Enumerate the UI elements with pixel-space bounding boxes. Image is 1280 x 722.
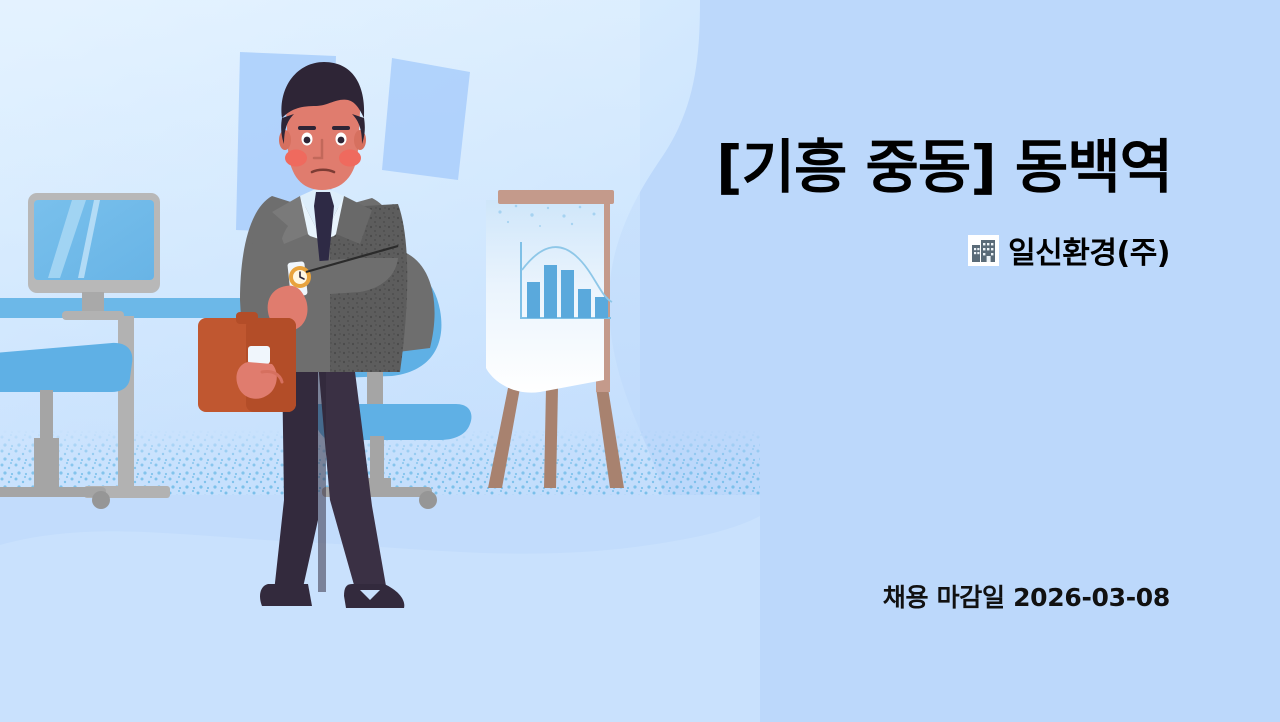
company-name: 일신환경(주) [1008, 228, 1170, 272]
floor [0, 495, 760, 722]
office-illustration [0, 0, 760, 722]
application-deadline: 채용 마감일 2026-03-08 [883, 578, 1170, 614]
wall-poster-small [382, 58, 470, 180]
page-title: [기흥 중동] 동백역 [532, 136, 1172, 199]
building-icon [968, 235, 999, 266]
job-posting-banner: [기흥 중동] 동백역 [0, 0, 1280, 722]
company-row: 일신환경(주) [968, 228, 1170, 272]
briefcase [198, 312, 296, 412]
